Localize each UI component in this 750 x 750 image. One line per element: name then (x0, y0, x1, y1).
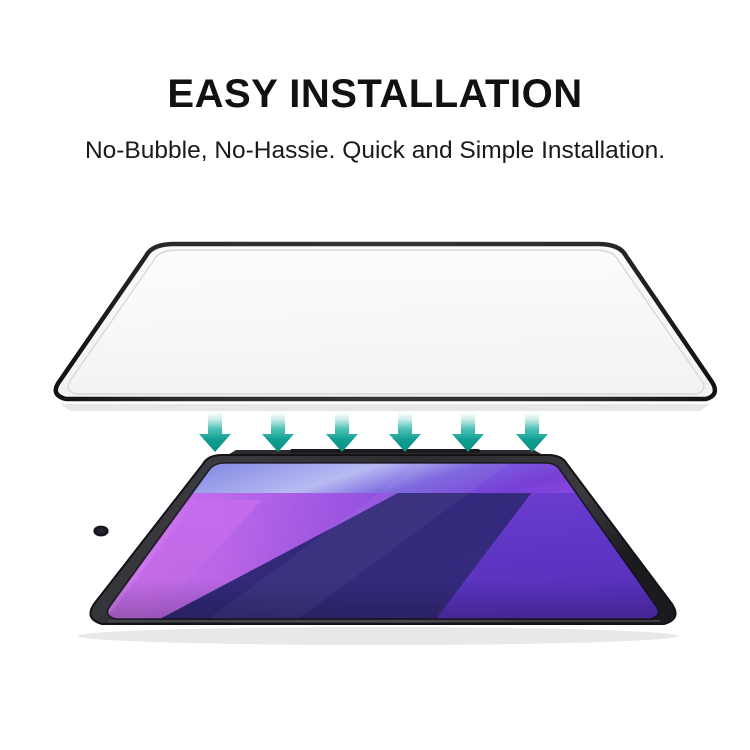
product-infographic: EASY INSTALLATION No-Bubble, No-Hassie. … (0, 0, 750, 750)
direction-arrows-graphic (0, 0, 750, 750)
arrow-layer (0, 0, 750, 750)
arrow-down-icon-3 (326, 412, 358, 452)
arrow-down-icon-2 (262, 412, 294, 452)
arrow-down-icon-6 (516, 412, 548, 452)
arrow-down-icon-5 (452, 412, 484, 452)
arrow-down-icon-1 (199, 412, 231, 452)
arrow-down-icon-4 (389, 412, 421, 452)
